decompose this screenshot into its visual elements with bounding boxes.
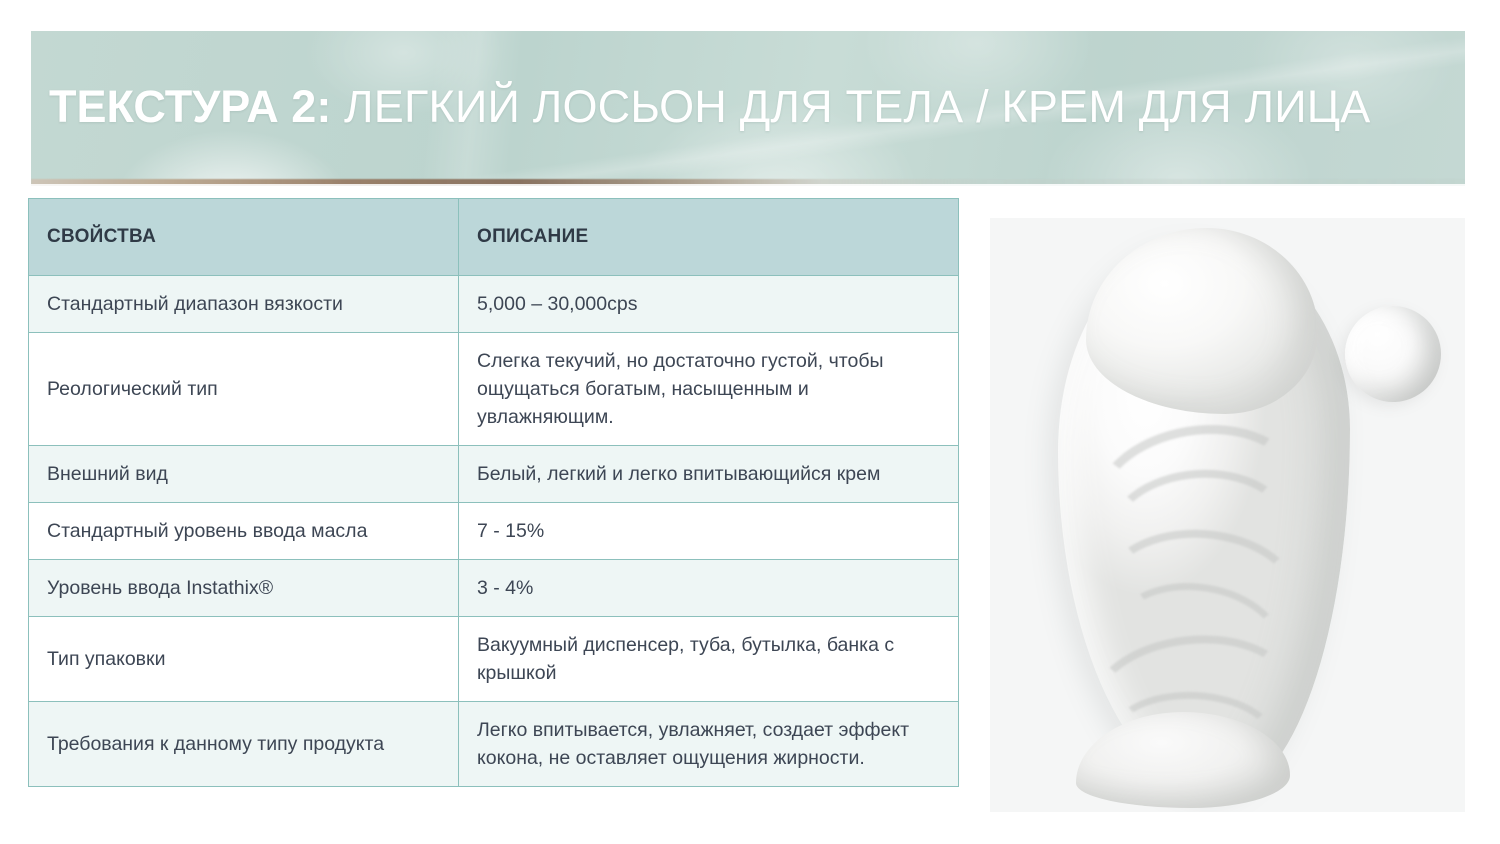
table-row: Стандартный диапазон вязкости 5,000 – 30… <box>29 276 959 333</box>
page-title-rest: ЛЕГКИЙ ЛОСЬОН ДЛЯ ТЕЛА / КРЕМ ДЛЯ ЛИЦА <box>331 81 1370 132</box>
table-row: Реологический тип Слегка текучий, но дос… <box>29 333 959 446</box>
table-header: СВОЙСТВА ОПИСАНИЕ <box>29 199 959 276</box>
cell-description: 3 - 4% <box>459 560 959 617</box>
column-header-description: ОПИСАНИЕ <box>459 199 959 276</box>
header-banner: ТЕКСТУРА 2: ЛЕГКИЙ ЛОСЬОН ДЛЯ ТЕЛА / КРЕ… <box>31 31 1465 186</box>
cell-property: Стандартный диапазон вязкости <box>29 276 459 333</box>
page-title-strong: ТЕКСТУРА 2: <box>49 81 331 132</box>
cell-property: Стандартный уровень ввода масла <box>29 503 459 560</box>
cell-description: Белый, легкий и легко впитывающийся крем <box>459 446 959 503</box>
table-row: Стандартный уровень ввода масла 7 - 15% <box>29 503 959 560</box>
cell-property: Уровень ввода Instathix® <box>29 560 459 617</box>
table-body: Стандартный диапазон вязкости 5,000 – 30… <box>29 276 959 787</box>
cell-description: 7 - 15% <box>459 503 959 560</box>
cell-property: Реологический тип <box>29 333 459 446</box>
cell-description: 5,000 – 30,000cps <box>459 276 959 333</box>
cell-property: Внешний вид <box>29 446 459 503</box>
cream-swirl-top-lobe <box>1086 228 1318 414</box>
column-header-property: СВОЙСТВА <box>29 199 459 276</box>
cell-description: Слегка текучий, но достаточно густой, чт… <box>459 333 959 446</box>
table-row: Тип упаковки Вакуумный диспенсер, туба, … <box>29 617 959 702</box>
page-title: ТЕКСТУРА 2: ЛЕГКИЙ ЛОСЬОН ДЛЯ ТЕЛА / КРЕ… <box>49 81 1459 133</box>
table-row: Уровень ввода Instathix® 3 - 4% <box>29 560 959 617</box>
banner-bottom-white-edge <box>31 184 1465 186</box>
table-row: Внешний вид Белый, легкий и легко впитыв… <box>29 446 959 503</box>
table-header-row: СВОЙСТВА ОПИСАНИЕ <box>29 199 959 276</box>
cream-droplet <box>1345 306 1441 402</box>
texture-spec-table: СВОЙСТВА ОПИСАНИЕ Стандартный диапазон в… <box>28 198 959 787</box>
table-row: Требования к данному типу продукта Легко… <box>29 702 959 787</box>
cell-description: Легко впитывается, увлажняет, создает эф… <box>459 702 959 787</box>
cell-description: Вакуумный диспенсер, туба, бутылка, банк… <box>459 617 959 702</box>
cell-property: Требования к данному типу продукта <box>29 702 459 787</box>
product-photo-panel <box>990 218 1465 812</box>
cell-property: Тип упаковки <box>29 617 459 702</box>
